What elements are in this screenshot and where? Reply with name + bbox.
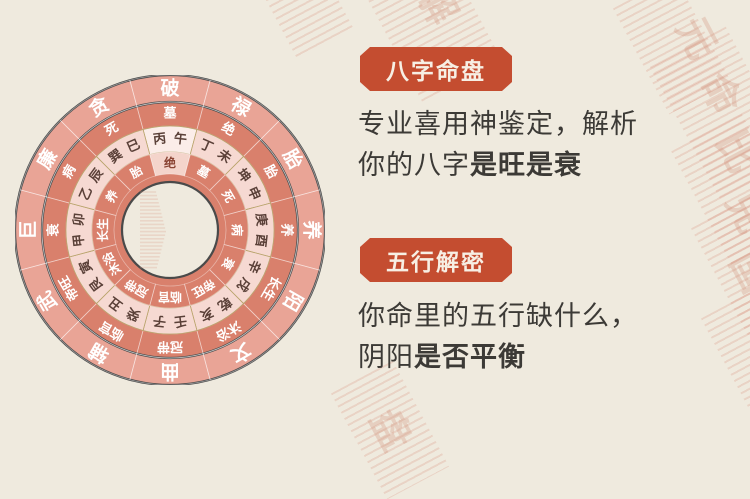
svg-text:衰: 衰 bbox=[46, 223, 62, 238]
wheel-label: 临官 bbox=[158, 290, 182, 305]
wheel-label: 养 bbox=[301, 219, 324, 239]
svg-text:长生: 长生 bbox=[95, 218, 110, 242]
wheel-label: 长生 bbox=[95, 218, 110, 242]
svg-text:壬: 壬 bbox=[173, 312, 188, 329]
wheel-label: 墓 bbox=[162, 106, 177, 122]
wheel-label: 曲 bbox=[160, 361, 179, 383]
svg-text:破: 破 bbox=[160, 78, 179, 100]
wheel-label: 午 bbox=[173, 130, 188, 147]
wheel-label: 养 bbox=[279, 222, 295, 237]
wheel-label: 卯 bbox=[70, 212, 87, 227]
line-prefix: 你的八字 bbox=[358, 150, 470, 181]
wheel-label: 衰 bbox=[46, 223, 62, 238]
svg-text:子: 子 bbox=[152, 312, 167, 328]
svg-text:午: 午 bbox=[173, 130, 188, 147]
section-paragraph-wuxing: 你命里的五行缺什么， 阴阳是否平衡 bbox=[358, 296, 638, 378]
section-paragraph-bazi: 专业喜用神鉴定，解析 你的八字是旺是衰 bbox=[358, 104, 638, 186]
svg-text:丙: 丙 bbox=[152, 131, 167, 147]
paragraph-line: 阴阳是否平衡 bbox=[358, 337, 638, 378]
wheel-label: 甲 bbox=[71, 233, 87, 248]
paragraph-line: 你命里的五行缺什么， bbox=[358, 296, 638, 337]
paragraph-line: 你的八字是旺是衰 bbox=[358, 145, 638, 186]
line-emphasis: 是否平衡 bbox=[414, 342, 526, 373]
poster-canvas: 元 命 比 兑 国 解 盘 破禄胎养阳文曲辅武巨廉贪墓绝胎养长生沐浴冠带临官帝旺… bbox=[0, 0, 750, 489]
svg-text:甲: 甲 bbox=[71, 233, 87, 248]
svg-text:冠带: 冠带 bbox=[157, 339, 183, 355]
svg-text:临官: 临官 bbox=[158, 290, 182, 305]
wheel-label: 庚 bbox=[252, 212, 269, 227]
wheel-label: 酉 bbox=[252, 233, 268, 248]
bazi-fortune-wheel[interactable]: 破禄胎养阳文曲辅武巨廉贪墓绝胎养长生沐浴冠带临官帝旺衰病死丙午丁未坤申庚酉辛戌乾… bbox=[15, 75, 325, 385]
svg-text:巨: 巨 bbox=[18, 220, 40, 239]
svg-text:养: 养 bbox=[301, 219, 324, 239]
wheel-label: 壬 bbox=[173, 312, 188, 329]
svg-text:酉: 酉 bbox=[252, 233, 268, 248]
svg-text:绝: 绝 bbox=[164, 155, 176, 170]
wheel-label: 巨 bbox=[18, 220, 40, 239]
line-prefix: 阴阳 bbox=[358, 342, 414, 373]
wheel-label: 冠带 bbox=[157, 339, 183, 355]
paragraph-line: 专业喜用神鉴定，解析 bbox=[358, 104, 638, 145]
wheel-label: 病 bbox=[230, 224, 245, 236]
wheel-label: 绝 bbox=[164, 155, 176, 170]
svg-text:庚: 庚 bbox=[252, 212, 269, 227]
wheel-label: 破 bbox=[160, 78, 179, 100]
line-emphasis: 是旺是衰 bbox=[470, 150, 582, 181]
wheel-svg: 破禄胎养阳文曲辅武巨廉贪墓绝胎养长生沐浴冠带临官帝旺衰病死丙午丁未坤申庚酉辛戌乾… bbox=[15, 75, 325, 385]
svg-text:养: 养 bbox=[279, 222, 295, 237]
section-banner-wuxing[interactable]: 五行解密 bbox=[360, 238, 512, 282]
section-banner-bazi[interactable]: 八字命盘 bbox=[360, 47, 512, 91]
wheel-label: 丙 bbox=[152, 131, 167, 147]
wheel-label: 子 bbox=[152, 312, 167, 328]
svg-text:卯: 卯 bbox=[70, 212, 87, 227]
svg-text:病: 病 bbox=[230, 224, 245, 236]
content-column: 八字命盘 专业喜用神鉴定，解析 你的八字是旺是衰 五行解密 你命里的五行缺什么，… bbox=[352, 0, 750, 489]
svg-text:墓: 墓 bbox=[162, 106, 177, 122]
svg-text:曲: 曲 bbox=[160, 361, 179, 383]
